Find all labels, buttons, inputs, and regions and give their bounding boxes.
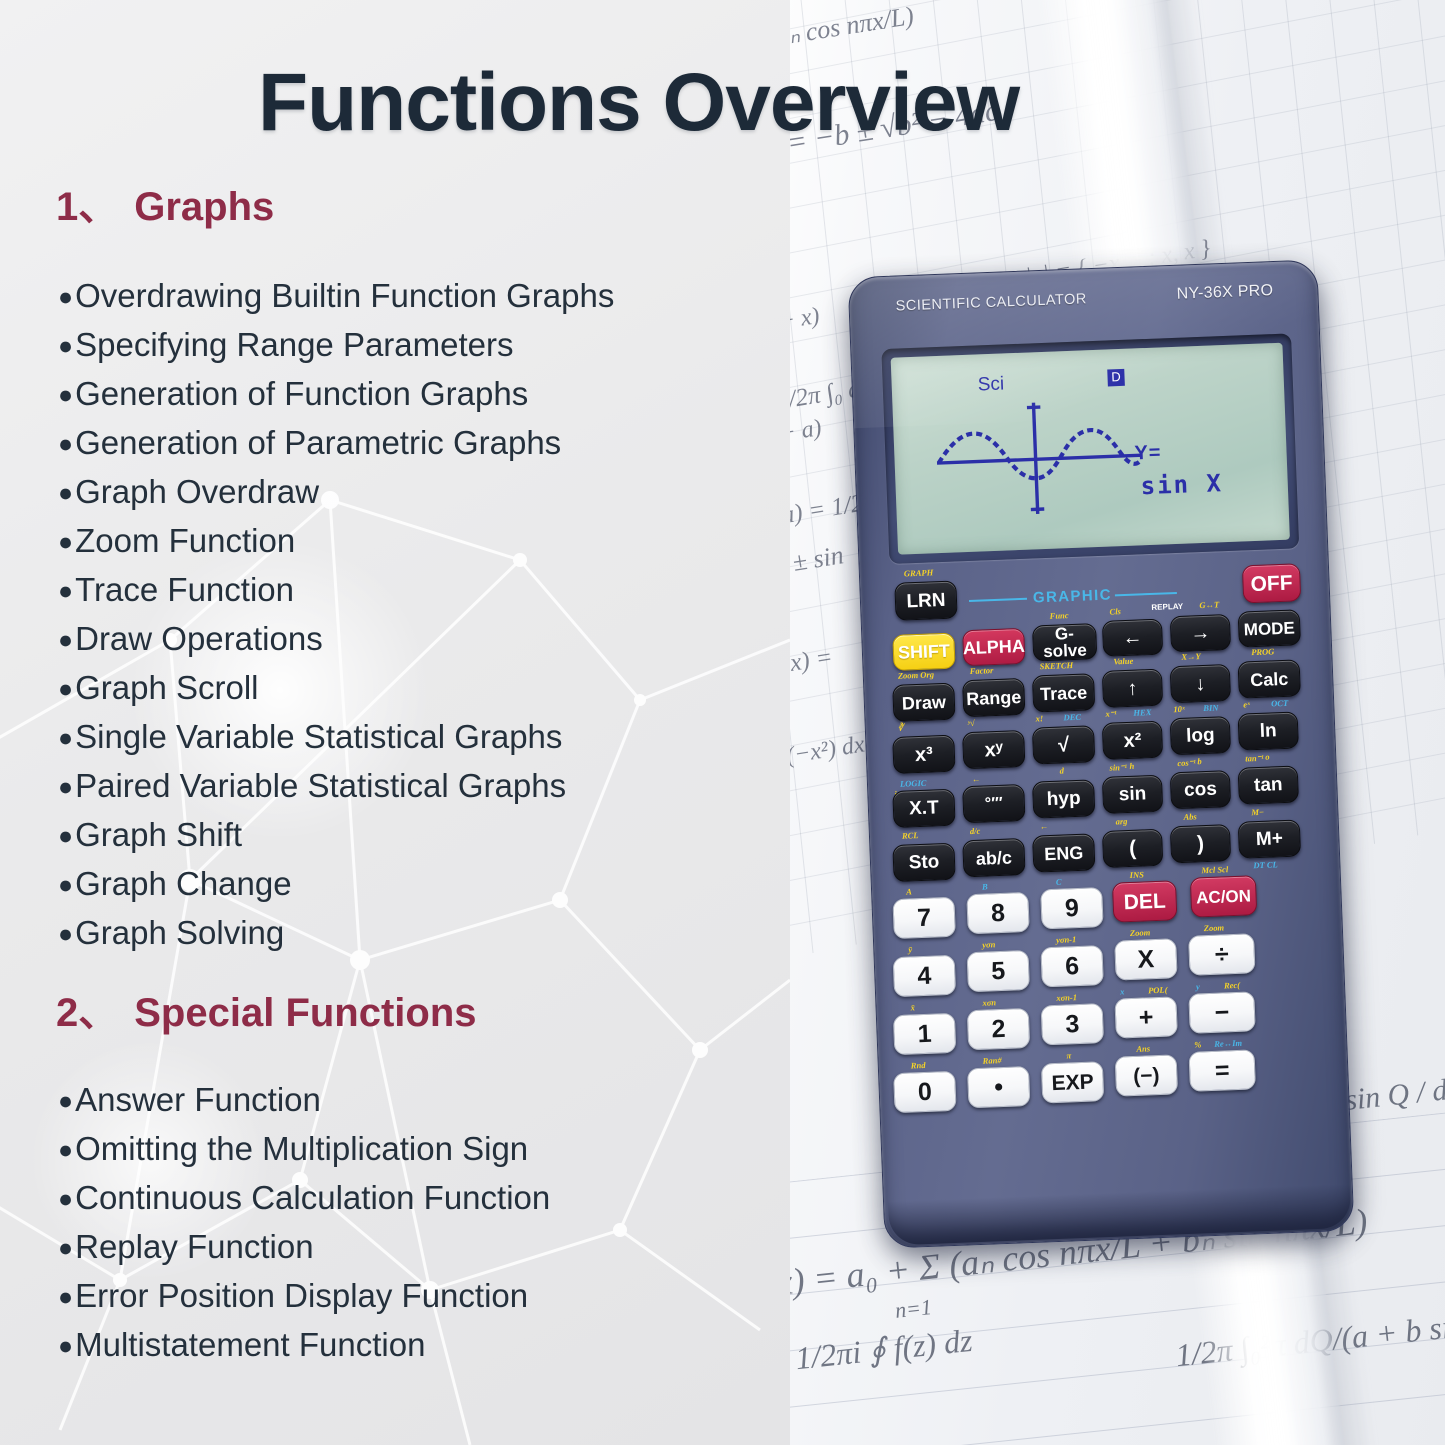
display-function-text: sin X — [1140, 469, 1223, 500]
key-tertiary-label: Re↔Im — [1214, 1038, 1242, 1049]
key-secondary-label: Value — [1113, 656, 1133, 667]
section-heading-graphs: 1、Graphs — [56, 174, 274, 232]
keypad: GRAPH LRN GRAPHIC OFF SHIFT ALPHA Func G… — [860, 556, 1355, 1234]
key-tertiary-label: POL( — [1148, 985, 1168, 996]
key-secondary-label: d/c — [970, 826, 981, 836]
bullet-icon: ● — [58, 528, 73, 556]
key-degrees-minutes-seconds[interactable]: °′″ — [962, 784, 1025, 823]
key-square-root[interactable]: √ — [1032, 725, 1095, 764]
bullet-icon: ● — [58, 626, 73, 654]
key-arrow-up[interactable]: ↑ — [1102, 669, 1163, 708]
calculator-product-image: SCIENTIFIC CALCULATOR NY-36X PRO Sci D — [848, 259, 1355, 1248]
key-close-paren[interactable]: ) — [1170, 824, 1231, 863]
key-x-t[interactable]: X.T — [892, 789, 955, 828]
key-ln[interactable]: ln — [1238, 711, 1299, 750]
key-secondary-label: y — [1196, 981, 1200, 991]
key-x-power-y[interactable]: xʸ — [962, 730, 1025, 769]
bullet-icon: ● — [58, 577, 73, 605]
key-del[interactable]: DEL — [1112, 880, 1177, 922]
key-lrn[interactable]: LRN — [894, 580, 957, 620]
list-item: ●Graph Overdraw — [58, 468, 614, 517]
list-item: ●Graph Solving — [58, 909, 614, 958]
bullet-icon: ● — [58, 1136, 73, 1164]
key-arrow-left[interactable]: ← — [1102, 619, 1163, 657]
bullet-icon: ● — [58, 430, 73, 458]
key-5[interactable]: 5 — [967, 950, 1030, 992]
key-secondary-label: B — [982, 881, 988, 891]
key-9[interactable]: 9 — [1040, 887, 1103, 929]
key-hyp[interactable]: hyp — [1032, 779, 1095, 818]
key-ab-over-c[interactable]: ab/c — [962, 838, 1025, 877]
calculator-branding: SCIENTIFIC CALCULATOR NY-36X PRO — [849, 282, 1318, 324]
bullet-icon: ● — [58, 479, 73, 507]
key-quaternary-label: h — [1129, 761, 1134, 771]
list-item: ●Zoom Function — [58, 517, 614, 566]
bullet-icon: ● — [58, 1087, 73, 1115]
bullet-icon: ● — [58, 332, 73, 360]
key-g-solve[interactable]: G-solve — [1032, 623, 1097, 661]
key-range[interactable]: Range — [962, 678, 1025, 717]
key-secondary-label: M− — [1251, 807, 1264, 817]
bullet-icon: ● — [58, 920, 73, 948]
key-cos[interactable]: cos — [1170, 770, 1231, 809]
page-title: Functions Overview — [258, 56, 1019, 150]
key-secondary-label: GRAPH — [904, 567, 934, 578]
key-secondary-label: % — [1194, 1039, 1201, 1049]
model-label: NY-36X PRO — [1176, 282, 1273, 304]
list-item: ●Trace Function — [58, 566, 614, 615]
key-secondary-label: Zoom — [1204, 922, 1225, 933]
key-secondary-label: x⁻¹ — [1105, 708, 1117, 719]
list-item: ●Answer Function — [58, 1076, 550, 1125]
key-secondary-label: xσn — [982, 997, 996, 1008]
key-secondary-label: SKETCH — [1039, 660, 1073, 671]
bullet-icon: ● — [58, 675, 73, 703]
bg-formula: n=1 — [894, 1294, 933, 1324]
key-x-cubed[interactable]: x³ — [892, 735, 955, 774]
key-secondary-label: ∛ — [898, 723, 904, 734]
key-4[interactable]: 4 — [893, 955, 956, 997]
key-sin[interactable]: sin — [1102, 775, 1163, 814]
key-secondary-label: Mcl Scl — [1201, 864, 1228, 875]
key-secondary-label: X→Y — [1181, 651, 1201, 662]
list-item: ●Graph Change — [58, 860, 614, 909]
section-number: 1、 — [56, 185, 118, 229]
key-multiply[interactable]: X — [1114, 938, 1177, 980]
key-secondary-label: Zoom — [1130, 927, 1151, 938]
special-functions-feature-list: ●Answer Function ●Omitting the Multiplic… — [58, 1076, 550, 1370]
key-6[interactable]: 6 — [1040, 945, 1103, 987]
key-secondary-label: arg — [1115, 816, 1127, 826]
key-quaternary-label: DT CL — [1253, 859, 1278, 870]
key-tertiary-label: OCT — [1271, 698, 1288, 709]
key-decimal-point[interactable]: • — [967, 1066, 1030, 1108]
key-secondary-label: yσn-1 — [1056, 934, 1077, 945]
key-3[interactable]: 3 — [1041, 1003, 1104, 1045]
key-1[interactable]: 1 — [893, 1013, 956, 1055]
bullet-icon: ● — [58, 381, 73, 409]
key-secondary-label: RCL — [902, 830, 919, 841]
list-item: ●Draw Operations — [58, 615, 614, 664]
key-secondary-label: xσn-1 — [1056, 992, 1077, 1003]
bullet-icon: ● — [58, 1234, 73, 1262]
key-secondary-label: Func — [1049, 610, 1068, 621]
list-item: ●Graph Scroll — [58, 664, 614, 713]
list-item: ●Generation of Parametric Graphs — [58, 419, 614, 468]
key-shift[interactable]: SHIFT — [892, 633, 955, 671]
key-x-squared[interactable]: x² — [1102, 721, 1163, 760]
sine-graph-plot — [891, 343, 1290, 555]
key-secondary-label: Rnd — [911, 1060, 926, 1071]
key-eng[interactable]: ENG — [1032, 833, 1095, 872]
calculator-body: SCIENTIFIC CALCULATOR NY-36X PRO Sci D — [848, 259, 1355, 1248]
key-open-paren[interactable]: ( — [1102, 829, 1163, 868]
list-item: ●Omitting the Multiplication Sign — [58, 1125, 550, 1174]
key-7[interactable]: 7 — [892, 897, 955, 939]
key-secondary-label: Ran# — [982, 1055, 1001, 1066]
key-arrow-down[interactable]: ↓ — [1170, 664, 1231, 703]
bullet-icon: ● — [58, 283, 73, 311]
key-tertiary-label: BIN — [1203, 702, 1218, 713]
key-trace[interactable]: Trace — [1032, 673, 1095, 712]
display-y-label: Y= — [1134, 441, 1162, 465]
key-secondary-label: PROG — [1251, 646, 1275, 657]
key-tertiary-label: Rec( — [1224, 980, 1240, 991]
key-log[interactable]: log — [1170, 716, 1231, 755]
key-mode[interactable]: MODE — [1238, 609, 1301, 647]
bullet-icon: ● — [58, 1332, 73, 1360]
key-ac-on[interactable]: AC/ON — [1190, 875, 1257, 918]
list-item: ●Continuous Calculation Function — [58, 1174, 550, 1223]
key-secondary-label: x! — [1035, 713, 1043, 723]
key-tertiary-label: HEX — [1133, 707, 1151, 718]
key-secondary-label: C — [1056, 877, 1062, 887]
key-secondary-label: x̄ — [910, 1002, 915, 1012]
key-secondary-label: eˣ — [1243, 699, 1250, 709]
brand-label: SCIENTIFIC CALCULATOR — [895, 291, 1087, 314]
bullet-icon: ● — [58, 1283, 73, 1311]
key-secondary-label: Factor — [970, 665, 994, 676]
section-title: Graphs — [134, 185, 274, 229]
key-secondary-label: Zoom Org — [898, 669, 934, 680]
key-secondary-label: Abs — [1183, 811, 1197, 822]
key-memory-plus[interactable]: M+ — [1238, 819, 1301, 858]
key-divide[interactable]: ÷ — [1188, 933, 1255, 976]
key-calc[interactable]: Calc — [1238, 659, 1301, 698]
section-title: Special Functions — [134, 991, 476, 1035]
lcd-display: Sci D Y= sin X — [891, 343, 1290, 555]
section-number: 2、 — [56, 991, 118, 1035]
graphs-feature-list: ●Overdrawing Builtin Function Graphs ●Sp… — [58, 272, 614, 958]
key-secondary-label: ȳ — [908, 944, 912, 954]
bullet-icon: ● — [58, 871, 73, 899]
key-secondary-label: 10ˣ — [1173, 704, 1185, 714]
key-sto[interactable]: Sto — [892, 843, 955, 882]
key-tan[interactable]: tan — [1238, 765, 1299, 804]
key-secondary-label: REPLAY — [1151, 602, 1183, 612]
key-exp[interactable]: EXP — [1041, 1061, 1104, 1103]
list-item: ●Specifying Range Parameters — [58, 321, 614, 370]
key-secondary-label: ← — [972, 774, 981, 784]
key-2[interactable]: 2 — [967, 1008, 1030, 1050]
bullet-icon: ● — [58, 773, 73, 801]
list-item: ●Error Position Display Function — [58, 1272, 550, 1321]
key-secondary-label: INS — [1129, 869, 1144, 880]
key-secondary-label: A — [906, 886, 912, 896]
bullet-icon: ● — [58, 724, 73, 752]
key-draw[interactable]: Draw — [892, 683, 955, 722]
list-item: ●Single Variable Statistical Graphs — [58, 713, 614, 762]
key-secondary-label: Cls — [1109, 606, 1121, 616]
key-secondary-label: tan⁻¹ — [1245, 753, 1264, 765]
key-equals[interactable]: = — [1188, 1049, 1255, 1092]
key-secondary-label: LOGIC — [900, 778, 927, 789]
key-negative-sign[interactable]: (−) — [1115, 1054, 1178, 1096]
key-quaternary-label: b — [1197, 756, 1202, 766]
key-secondary-label: ← — [1040, 821, 1049, 831]
list-item: ●Overdrawing Builtin Function Graphs — [58, 272, 614, 321]
key-secondary-label: Ans — [1136, 1043, 1150, 1054]
list-item: ●Multistatement Function — [58, 1321, 550, 1370]
key-arrow-right[interactable]: → — [1170, 614, 1231, 652]
lcd-bezel: Sci D Y= sin X — [881, 333, 1299, 564]
bullet-icon: ● — [58, 822, 73, 850]
key-secondary-label: yσn — [982, 939, 995, 949]
key-secondary-label: G↔T — [1199, 599, 1219, 610]
key-secondary-label: cos⁻¹ — [1177, 757, 1196, 769]
bg-formula: sin Q / dr — [1344, 1072, 1445, 1118]
key-0[interactable]: 0 — [893, 1071, 956, 1113]
key-secondary-label: sin⁻¹ — [1109, 762, 1127, 774]
graphic-section-label: GRAPHIC — [1033, 586, 1113, 606]
key-8[interactable]: 8 — [966, 892, 1029, 934]
key-tertiary-label: DEC — [1063, 712, 1081, 723]
key-quaternary-label: o — [1265, 752, 1270, 762]
key-secondary-label: π — [1066, 1050, 1071, 1060]
key-off[interactable]: OFF — [1242, 563, 1301, 603]
section-heading-special-functions: 2、Special Functions — [56, 980, 477, 1038]
list-item: ●Paired Variable Statistical Graphs — [58, 762, 614, 811]
list-item: ●Replay Function — [58, 1223, 550, 1272]
key-secondary-label: ʸ√ — [968, 718, 975, 728]
key-minus[interactable]: − — [1188, 991, 1255, 1034]
key-quaternary-label: d — [1059, 765, 1064, 775]
key-alpha[interactable]: ALPHA — [962, 628, 1025, 666]
list-item: ●Graph Shift — [58, 811, 614, 860]
key-plus[interactable]: + — [1114, 996, 1177, 1038]
key-secondary-label: x — [1120, 986, 1125, 996]
bullet-icon: ● — [58, 1185, 73, 1213]
list-item: ●Generation of Function Graphs — [58, 370, 614, 419]
